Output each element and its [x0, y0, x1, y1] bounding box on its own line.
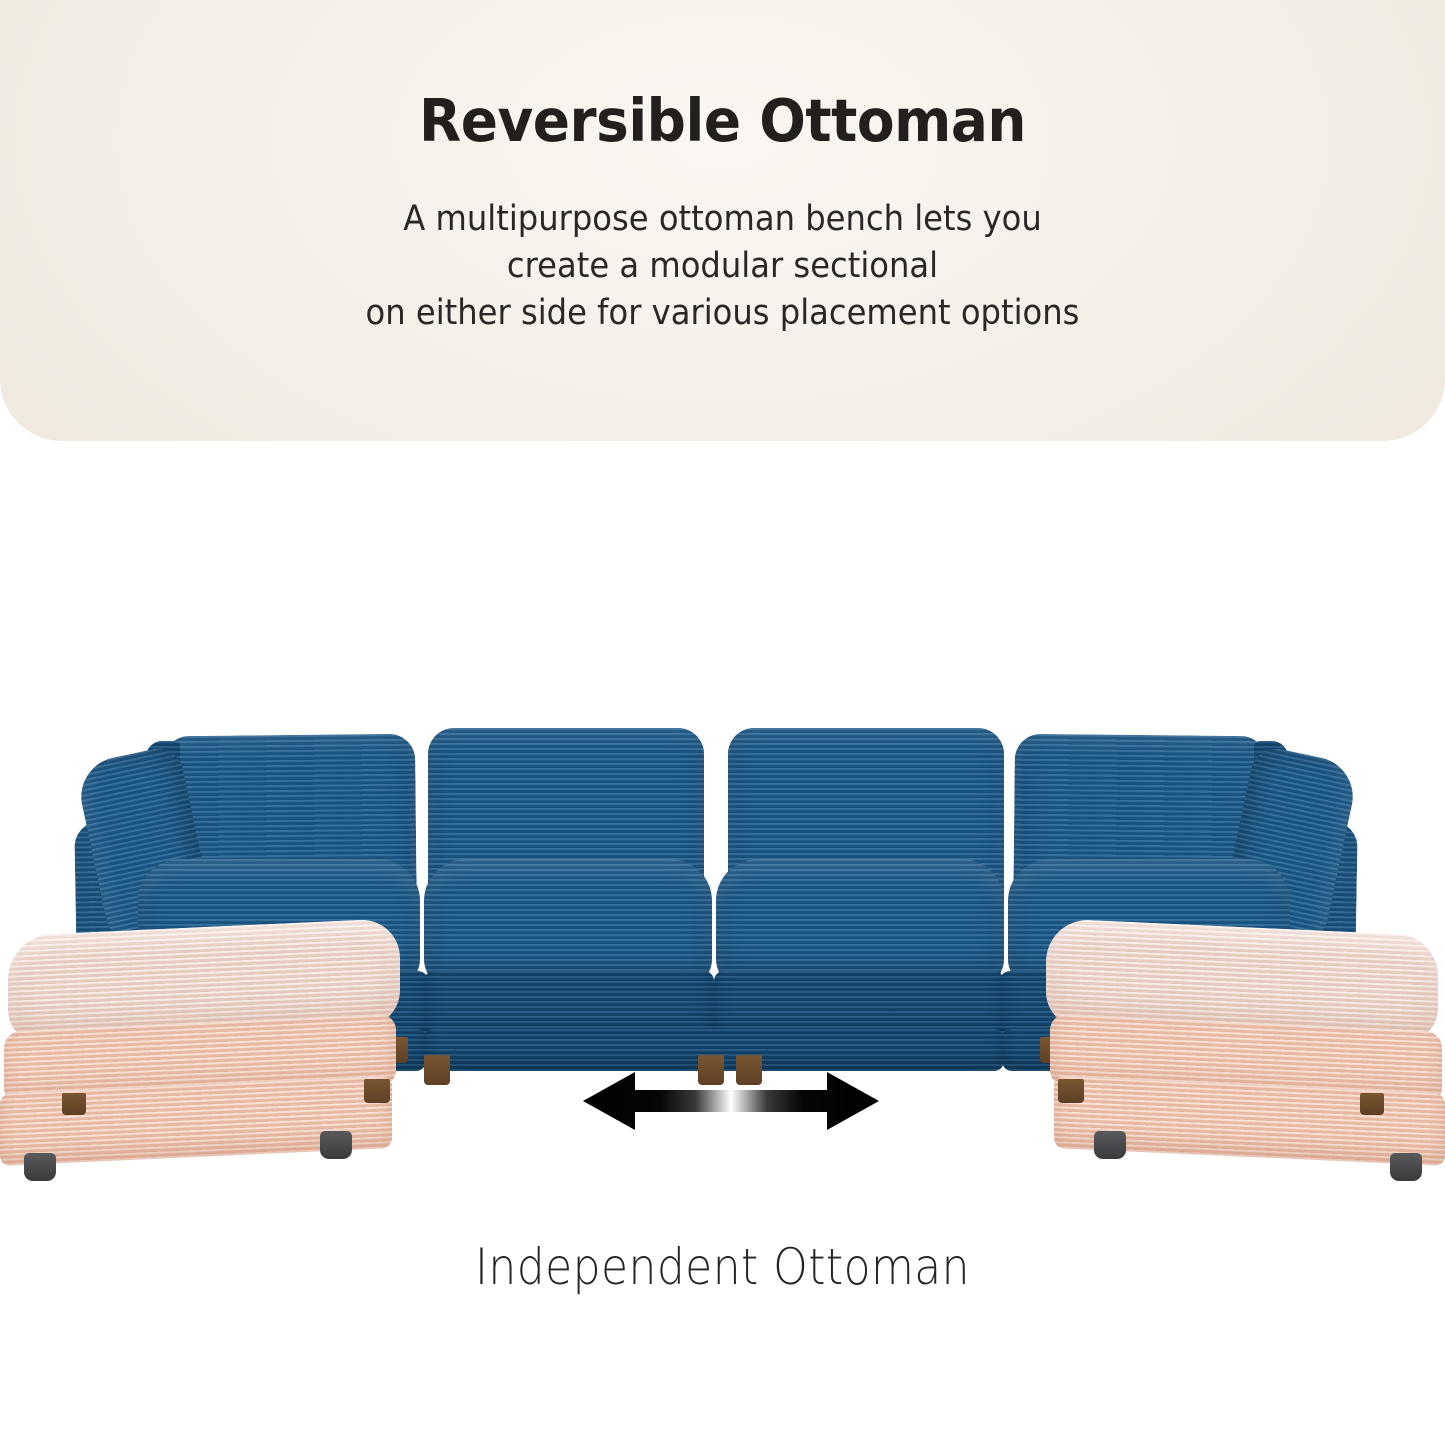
left-ottoman-leg-inner	[364, 1079, 390, 1103]
header-subtitle: A multipurpose ottoman bench lets you cr…	[58, 196, 1387, 337]
center-seat-cushion-2	[716, 859, 1004, 989]
right-ottoman-leg-inner	[1058, 1079, 1084, 1103]
subtitle-line-3: on either side for various placement opt…	[58, 290, 1387, 337]
center-leg-1	[424, 1055, 450, 1085]
right-ottoman-foot-inner	[1094, 1131, 1126, 1159]
left-ottoman-leg-outer	[62, 1093, 86, 1115]
header-panel: Reversible Ottoman A multipurpose ottoma…	[0, 0, 1445, 441]
page-title: Reversible Ottoman	[51, 86, 1395, 155]
subtitle-line-2: create a modular sectional	[58, 243, 1387, 290]
right-ottoman-leg-outer	[1360, 1093, 1384, 1115]
center-seat-cushion-1	[424, 859, 712, 989]
subtitle-line-1: A multipurpose ottoman bench lets you	[58, 196, 1387, 243]
product-caption: Independent Ottoman	[87, 1238, 1359, 1296]
left-ottoman-foot-outer	[24, 1153, 56, 1181]
reversible-swap-arrow-icon	[583, 1070, 879, 1132]
left-ottoman-foot-inner	[320, 1131, 352, 1159]
right-ottoman-foot-outer	[1390, 1153, 1422, 1181]
